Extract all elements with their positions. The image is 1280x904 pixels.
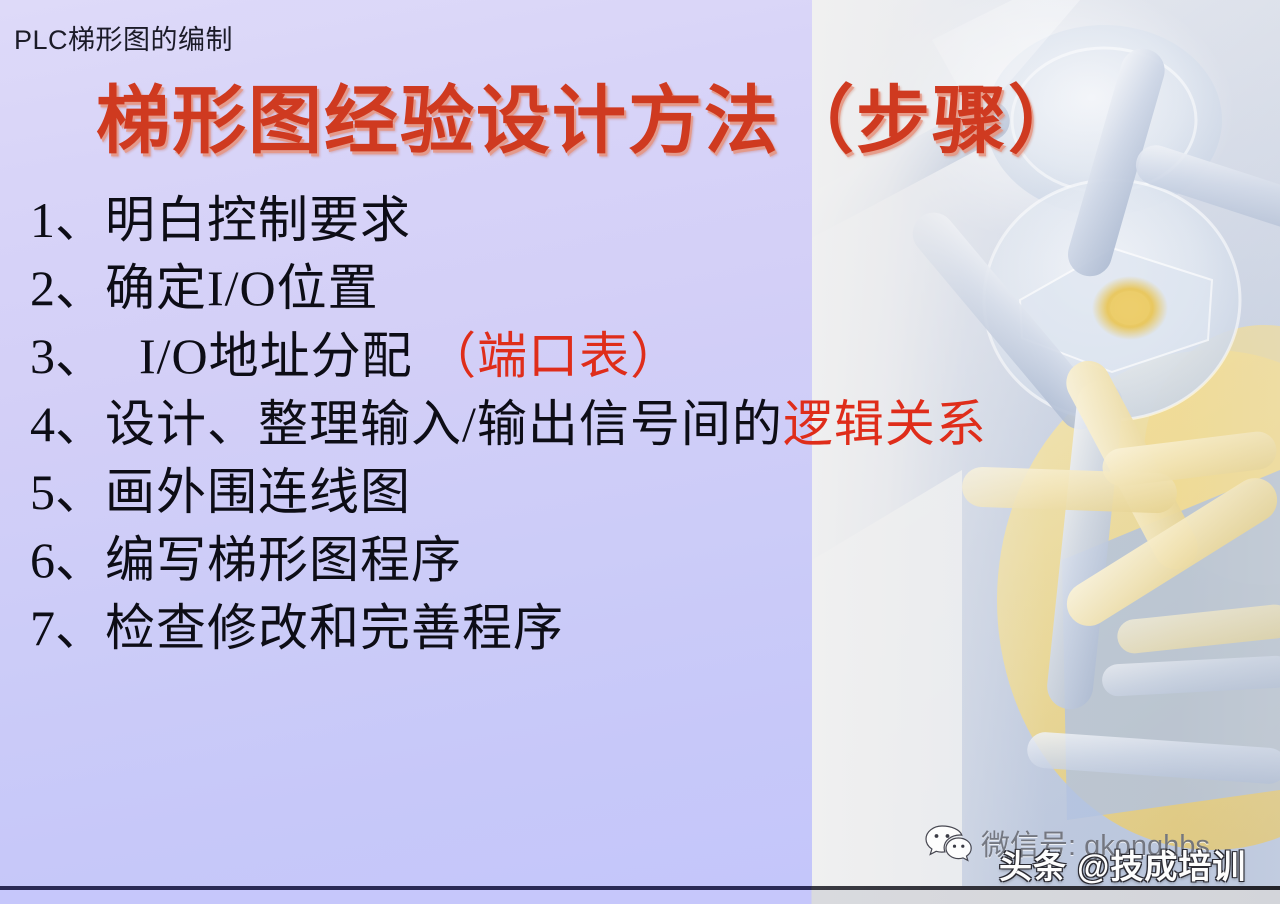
bottom-strip bbox=[0, 890, 1280, 904]
step-number-5: 5、 bbox=[30, 464, 105, 520]
step-number-1: 1、 bbox=[30, 192, 105, 248]
step-item-5: 5、画外围连线图 bbox=[30, 458, 1260, 526]
toutiao-watermark-text: 头条 @技成培训 bbox=[999, 840, 1246, 888]
presentation-slide: PLC梯形图的编制 梯形图经验设计方法（步骤） 1、明白控制要求2、确定I/O位… bbox=[0, 0, 1280, 904]
step-item-1: 1、明白控制要求 bbox=[30, 186, 1260, 254]
step-item-7: 7、检查修改和完善程序 bbox=[30, 594, 1260, 662]
slide-title: 梯形图经验设计方法（步骤） bbox=[0, 78, 1180, 166]
step-text-7: 检查修改和完善程序 bbox=[105, 600, 564, 656]
step-item-3: 3、I/O地址分配 （端口表） bbox=[30, 322, 1260, 390]
step-accent-text-4: 逻辑关系 bbox=[783, 396, 987, 452]
step-text-2: 确定I/O位置 bbox=[105, 260, 379, 316]
step-text-3: I/O地址分配 bbox=[139, 328, 426, 384]
step-number-2: 2、 bbox=[30, 260, 105, 316]
step-number-6: 6、 bbox=[30, 532, 105, 588]
step-text-1: 明白控制要求 bbox=[105, 192, 411, 248]
step-item-6: 6、编写梯形图程序 bbox=[30, 526, 1260, 594]
step-number-3: 3、 bbox=[30, 328, 105, 384]
wechat-bubbles-icon bbox=[924, 824, 972, 862]
step-item-4: 4、设计、整理输入/输出信号间的逻辑关系 bbox=[30, 390, 1260, 458]
step-item-2: 2、确定I/O位置 bbox=[30, 254, 1260, 322]
steps-list: 1、明白控制要求2、确定I/O位置3、I/O地址分配 （端口表）4、设计、整理输… bbox=[30, 186, 1260, 662]
step-text-5: 画外围连线图 bbox=[105, 464, 411, 520]
step-number-7: 7、 bbox=[30, 600, 105, 656]
step-accent-text-3: （端口表） bbox=[426, 328, 681, 384]
step-text-4: 设计、整理输入/输出信号间的 bbox=[105, 396, 783, 452]
step-number-4: 4、 bbox=[30, 396, 105, 452]
slide-header: PLC梯形图的编制 bbox=[14, 18, 233, 57]
step-text-6: 编写梯形图程序 bbox=[105, 532, 462, 588]
